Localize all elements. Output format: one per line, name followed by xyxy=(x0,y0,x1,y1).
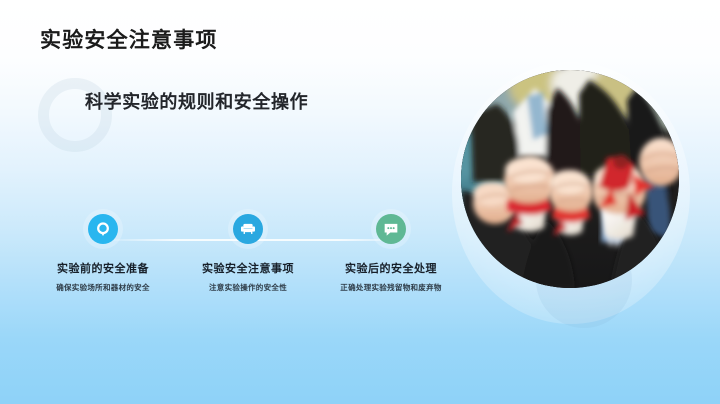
step-item-2[interactable]: 实验安全注意事项 注意实验操作的安全性 xyxy=(173,214,323,293)
slide-subtitle: 科学实验的规则和安全操作 xyxy=(85,88,308,114)
steps-row: 实验前的安全准备 确保实验场所和器材的安全 实验安全注意事项 注意实验操作的安全… xyxy=(28,214,460,310)
sofa-icon xyxy=(240,222,256,236)
step-2-label: 实验安全注意事项 xyxy=(173,260,323,276)
presentation-slide: 实验安全注意事项 科学实验的规则和安全操作 xyxy=(0,0,720,404)
graduation-photo-image xyxy=(461,70,679,288)
step-3-badge[interactable] xyxy=(376,214,406,244)
step-3-description: 正确处理实验残留物和废弃物 xyxy=(316,282,466,293)
chat-bubble-icon xyxy=(383,222,399,237)
step-item-1[interactable]: 实验前的安全准备 确保实验场所和器材的安全 xyxy=(28,214,178,293)
step-1-description: 确保实验场所和器材的安全 xyxy=(28,282,178,293)
slide-title: 实验安全注意事项 xyxy=(40,24,218,54)
step-2-description: 注意实验操作的安全性 xyxy=(173,282,323,293)
step-1-badge[interactable] xyxy=(88,214,118,244)
graduation-photo xyxy=(461,70,679,288)
step-3-label: 实验后的安全处理 xyxy=(316,260,466,276)
step-2-badge[interactable] xyxy=(233,214,263,244)
step-1-label: 实验前的安全准备 xyxy=(28,260,178,276)
step-item-3[interactable]: 实验后的安全处理 正确处理实验残留物和废弃物 xyxy=(316,214,466,293)
location-pin-icon xyxy=(95,221,111,237)
